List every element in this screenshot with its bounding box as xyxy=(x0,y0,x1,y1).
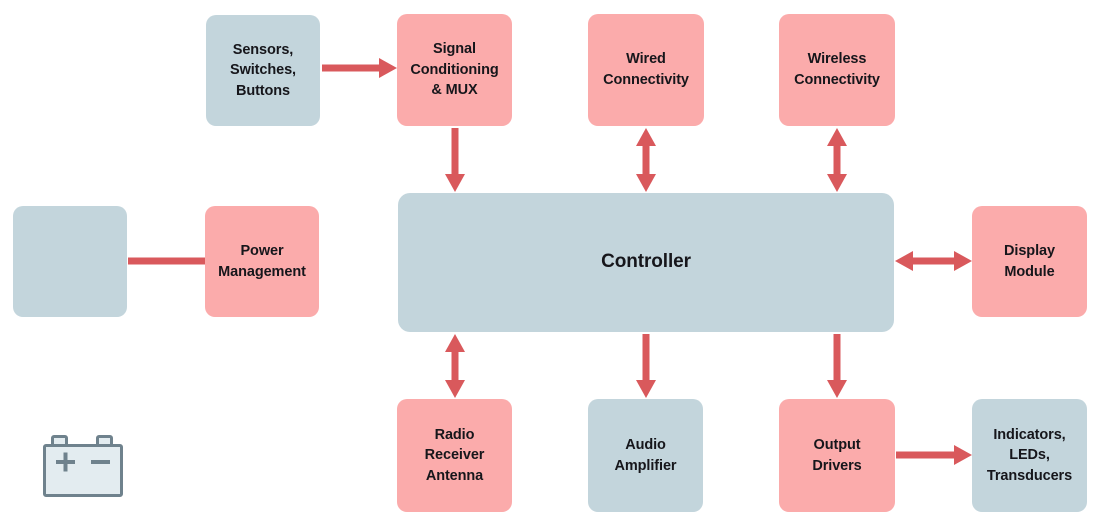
node-label: Controller xyxy=(601,249,691,276)
node-controller[interactable]: Controller xyxy=(398,193,894,332)
node-radio-receiver-antenna[interactable]: Radio Receiver Antenna xyxy=(397,399,512,512)
node-label: Wireless Connectivity xyxy=(794,49,880,90)
node-label: Power Management xyxy=(218,241,306,282)
edge-output-to-indicators xyxy=(896,445,972,465)
node-output-drivers[interactable]: Output Drivers xyxy=(779,399,895,512)
edge-controller-to-audio xyxy=(636,334,656,398)
edge-signal-to-controller xyxy=(445,128,465,192)
node-label: Sensors, Switches, Buttons xyxy=(230,40,296,102)
node-power-management[interactable]: Power Management xyxy=(205,206,319,317)
node-wireless-connectivity[interactable]: Wireless Connectivity xyxy=(779,14,895,126)
edge-sensors-to-signal xyxy=(322,58,397,78)
edge-controller-to-output xyxy=(827,334,847,398)
node-label: Signal Conditioning & MUX xyxy=(410,39,498,101)
node-audio-amplifier[interactable]: Audio Amplifier xyxy=(588,399,703,512)
node-label: Radio Receiver Antenna xyxy=(425,425,485,487)
node-battery[interactable] xyxy=(13,206,127,317)
node-label: Audio Amplifier xyxy=(615,435,677,476)
edge-controller-display xyxy=(895,251,972,271)
node-label: Wired Connectivity xyxy=(603,49,689,90)
node-indicators-leds-transducers[interactable]: Indicators, LEDs, Transducers xyxy=(972,399,1087,512)
node-label: Output Drivers xyxy=(812,435,861,476)
node-signal-conditioning-mux[interactable]: Signal Conditioning & MUX xyxy=(397,14,512,126)
battery-icon xyxy=(42,435,124,498)
block-diagram-canvas: Sensors, Switches, Buttons Signal Condit… xyxy=(0,0,1100,525)
edge-wireless-controller xyxy=(827,128,847,192)
node-sensors-switches-buttons[interactable]: Sensors, Switches, Buttons xyxy=(206,15,320,126)
edge-controller-radio xyxy=(445,334,465,398)
node-label: Display Module xyxy=(1004,241,1055,282)
node-display-module[interactable]: Display Module xyxy=(972,206,1087,317)
edge-wired-controller xyxy=(636,128,656,192)
node-label: Indicators, LEDs, Transducers xyxy=(987,425,1072,487)
node-wired-connectivity[interactable]: Wired Connectivity xyxy=(588,14,704,126)
